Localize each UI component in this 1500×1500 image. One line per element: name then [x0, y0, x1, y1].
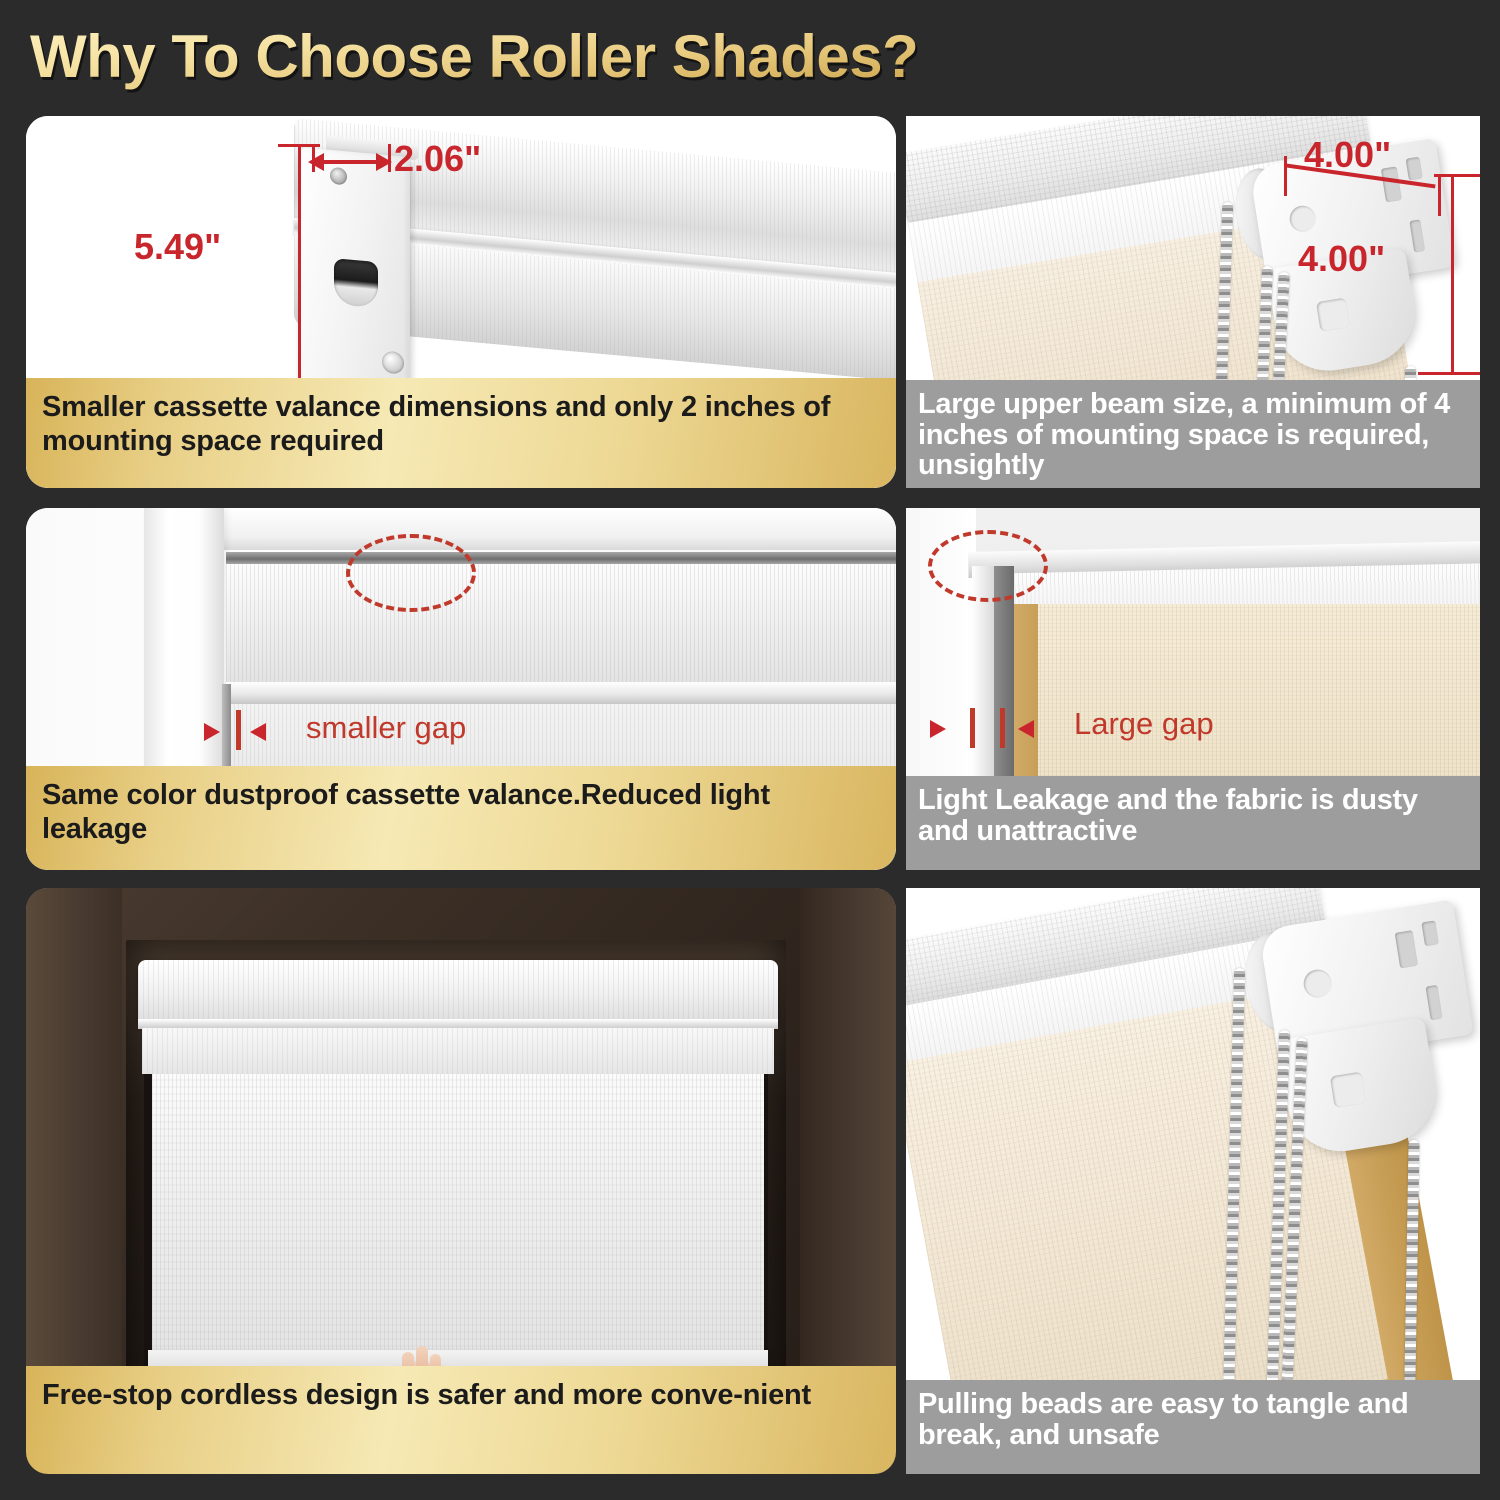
bracket-slot-3: [1425, 985, 1442, 1020]
gap-marker-bar-2: [1000, 708, 1005, 748]
upper-fabric-section: [226, 564, 896, 684]
panel-2-caption: Large upper beam size, a minimum of 4 in…: [906, 380, 1480, 488]
end-cap-chain-hole: [334, 258, 378, 308]
beam-width-tick-left: [1284, 156, 1287, 196]
bracket-slot-2: [1421, 920, 1439, 946]
panel-2-large-beam: 4.00" 4.00" Large upper beam size, a min…: [906, 116, 1480, 488]
panel-4-large-gap: Large gap Light Leakage and the fabric i…: [906, 508, 1480, 870]
fabric-upper-band: [142, 1028, 774, 1074]
gap-arrow-right: [250, 723, 266, 741]
bracket-slot-1: [1395, 930, 1418, 968]
height-dimension-label: 5.49": [134, 226, 221, 268]
panel-3-caption: Same color dustproof cassette valance.Re…: [26, 766, 896, 870]
width-dim-tick-left: [312, 144, 315, 172]
panel-6-caption: Pulling beads are easy to tangle and bre…: [906, 1380, 1480, 1474]
beam-width-label: 4.00": [1304, 134, 1391, 176]
shade-fabric: [152, 1074, 764, 1354]
panel-6-pull-beads: Pulling beads are easy to tangle and bre…: [906, 888, 1480, 1474]
width-dimension-label: 2.06": [394, 138, 481, 180]
header: Why To Choose Roller Shades?: [0, 0, 1500, 112]
beam-width-tick-right: [1438, 174, 1441, 216]
panel-1-cassette-dimensions: 2.06" 5.49" Smaller cassette valance dim…: [26, 116, 896, 488]
width-dim-tick-right: [388, 144, 391, 172]
beam-height-tick-top: [1434, 174, 1480, 177]
gap-arrow-left: [930, 720, 946, 738]
cassette-valance: [138, 960, 778, 1022]
bracket-slot-3: [1409, 219, 1425, 252]
height-dim-tick-top: [278, 144, 320, 147]
beam-height-dim-line: [1451, 174, 1454, 374]
gap-label: Large gap: [1074, 706, 1214, 742]
beam-height-label: 4.00": [1298, 238, 1385, 280]
beam-height-tick-bottom: [1418, 372, 1480, 375]
panel-5-cordless-room: Free-stop cordless design is safer and m…: [26, 888, 896, 1474]
panel-3-small-gap: smaller gap Same color dustproof cassett…: [26, 508, 896, 870]
bracket-slot-2: [1406, 157, 1423, 181]
gap-arrow-right: [1018, 720, 1034, 738]
page-title: Why To Choose Roller Shades?: [30, 22, 918, 91]
highlight-ellipse: [346, 534, 476, 612]
panel-1-caption: Smaller cassette valance dimensions and …: [26, 378, 896, 488]
window-frame-top: [144, 508, 896, 550]
bracket-logo-icon: [1302, 968, 1334, 1000]
gap-marker-bar-1: [970, 708, 975, 748]
highlight-ellipse: [928, 530, 1048, 602]
panel-5-caption: Free-stop cordless design is safer and m…: [26, 1366, 896, 1474]
bracket-lower-logo-icon: [1330, 1072, 1367, 1109]
gap-marker-bar: [236, 710, 241, 750]
panel-4-caption: Light Leakage and the fabric is dusty an…: [906, 776, 1480, 870]
end-cap-screw-top: [330, 167, 347, 186]
bracket-lower-logo-icon: [1316, 298, 1350, 332]
mid-rail: [226, 682, 896, 704]
gap-arrow-left: [204, 723, 220, 741]
gap-label: smaller gap: [306, 710, 466, 746]
end-cap-screw-mid: [382, 351, 404, 375]
width-dim-arrow-left: [308, 153, 324, 171]
bracket-logo-icon: [1288, 204, 1318, 234]
